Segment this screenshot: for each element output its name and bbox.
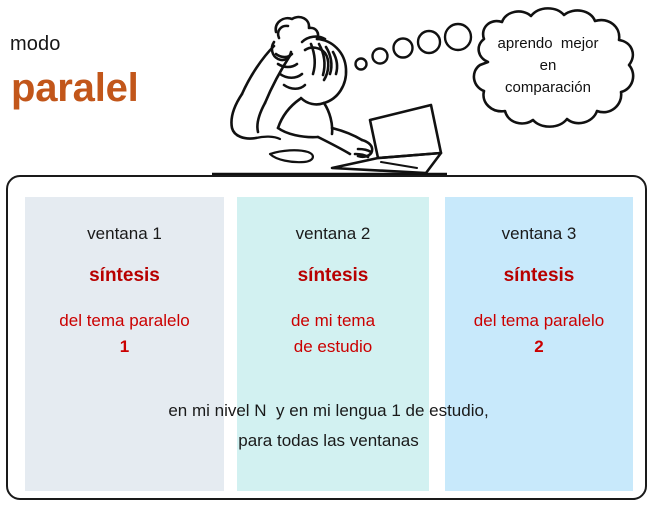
window-body-3-line-2: 2 bbox=[445, 334, 633, 360]
thought-bubble-text: aprendo mejor en comparación bbox=[472, 33, 624, 99]
header-area: modo paralel bbox=[0, 0, 657, 175]
window-column-1[interactable]: ventana 1 síntesis del tema paralelo 1 bbox=[25, 197, 224, 491]
window-label-3: ventana 3 bbox=[445, 224, 633, 244]
window-title-1: síntesis bbox=[25, 265, 224, 287]
window-title-3: síntesis bbox=[445, 265, 633, 287]
parallel-mode-panel: ventana 1 síntesis del tema paralelo 1 v… bbox=[6, 175, 647, 500]
window-body-2: de mi tema de estudio bbox=[237, 308, 429, 360]
window-title-2: síntesis bbox=[237, 265, 429, 287]
window-column-3[interactable]: ventana 3 síntesis del tema paralelo 2 bbox=[445, 197, 633, 491]
thought-line-1: aprendo mejor bbox=[472, 33, 624, 55]
window-body-1: del tema paralelo 1 bbox=[25, 308, 224, 360]
window-label-2: ventana 2 bbox=[237, 224, 429, 244]
mode-value: paralel bbox=[11, 66, 139, 111]
window-body-1-line-1: del tema paralelo bbox=[25, 308, 224, 334]
window-body-3: del tema paralelo 2 bbox=[445, 308, 633, 360]
mode-label: modo bbox=[10, 33, 60, 56]
window-body-2-line-1: de mi tema bbox=[237, 308, 429, 334]
thought-line-3: comparación bbox=[472, 77, 624, 99]
window-label-1: ventana 1 bbox=[25, 224, 224, 244]
thought-line-2: en bbox=[472, 55, 624, 77]
window-body-3-line-1: del tema paralelo bbox=[445, 308, 633, 334]
window-body-2-line-2: de estudio bbox=[237, 334, 429, 360]
windows-columns: ventana 1 síntesis del tema paralelo 1 v… bbox=[8, 177, 649, 502]
window-body-1-line-2: 1 bbox=[25, 334, 224, 360]
window-column-2[interactable]: ventana 2 síntesis de mi tema de estudio bbox=[237, 197, 429, 491]
